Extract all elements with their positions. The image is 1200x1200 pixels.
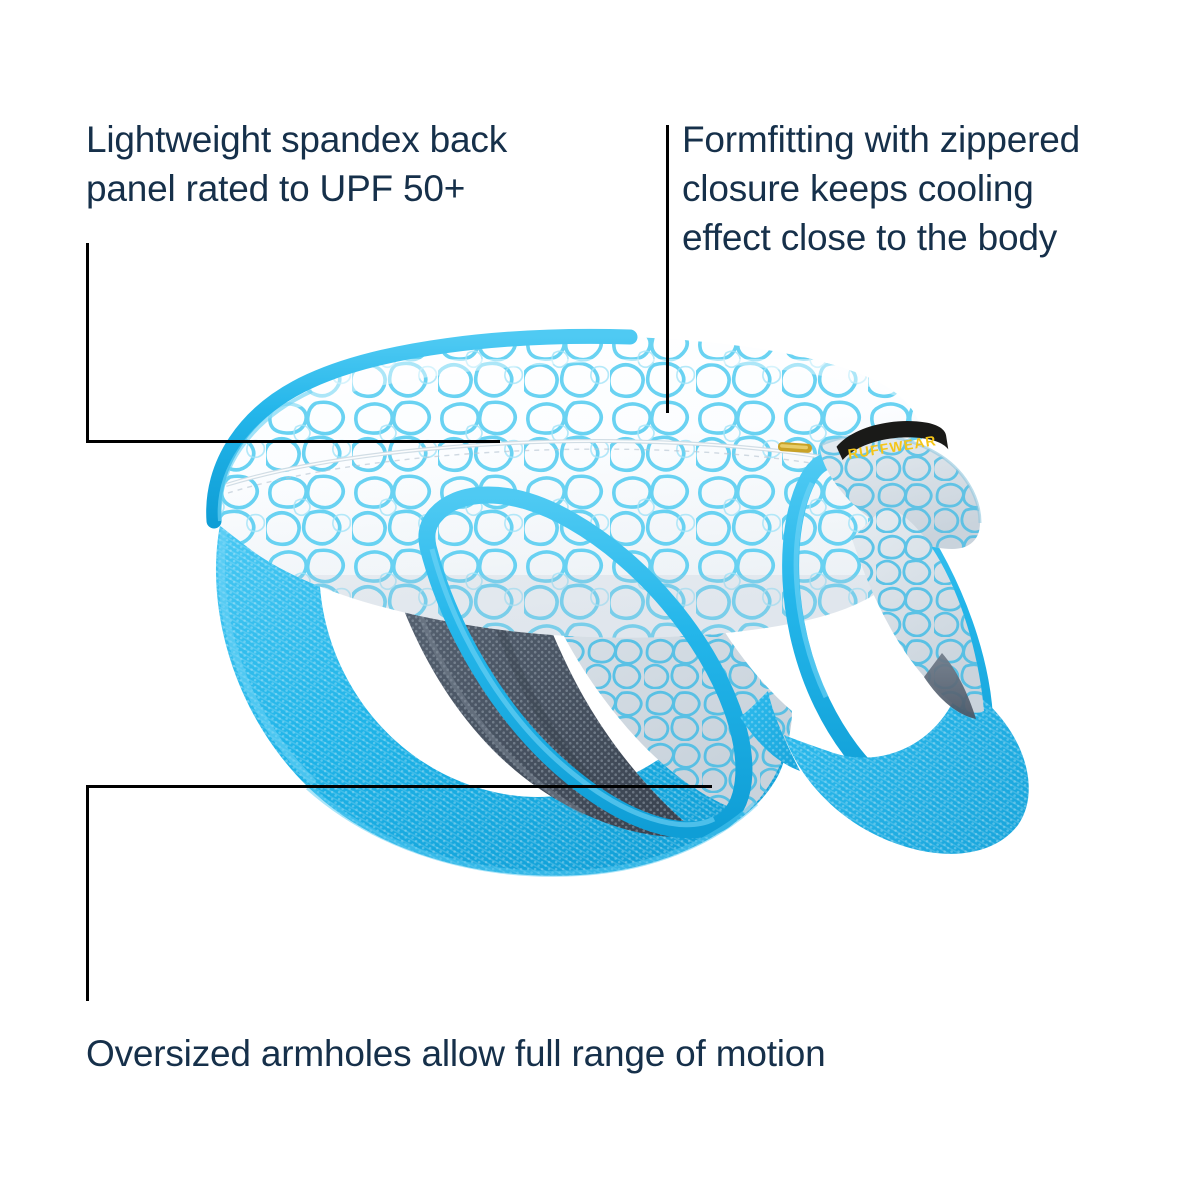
feature-callout-page: RUFFWEAR Lightweight spandex back panel … [0,0,1200,1200]
product-illustration: RUFFWEAR [180,325,1030,895]
callout-oversized-armholes: Oversized armholes allow full range of m… [86,1030,986,1079]
leader-line-3-horizontal [86,785,712,788]
leader-line-2-vertical [666,125,669,413]
callout-formfitting-zippered-closure: Formfitting with zippered closure keeps … [682,116,1172,262]
leader-line-3-vertical [86,785,89,1001]
callout-lightweight-spandex-back-panel: Lightweight spandex back panel rated to … [86,116,666,214]
leader-line-1-horizontal [86,440,500,443]
leader-line-1-vertical [86,243,89,443]
